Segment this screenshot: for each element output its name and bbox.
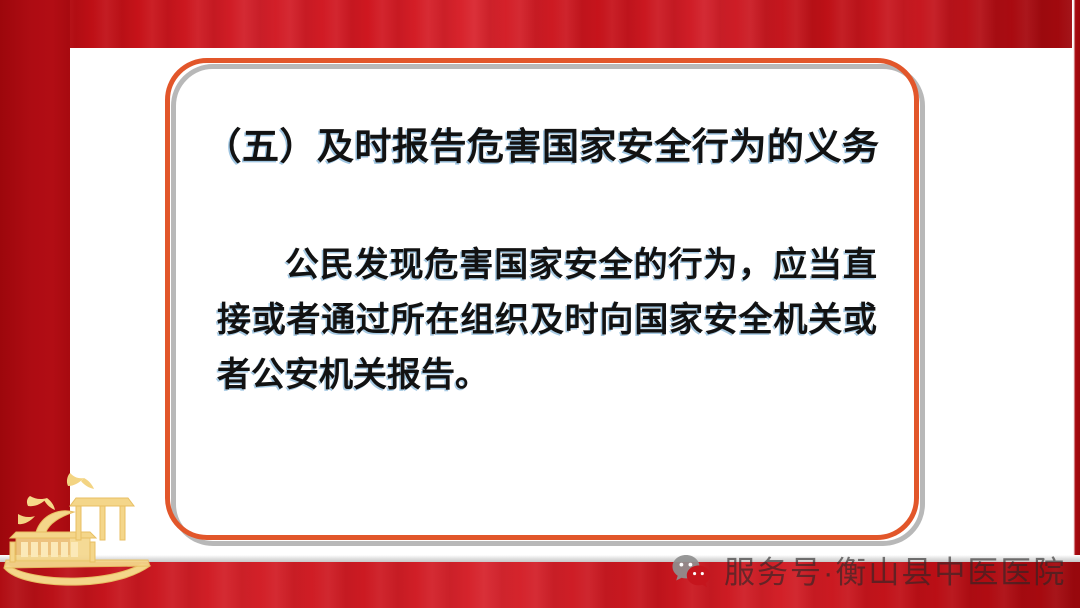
- left-red-column: [0, 0, 70, 608]
- watermark-label: 服务号·衡山县中医医院: [724, 557, 1066, 588]
- slide-canvas: （五）及时报告危害国家安全行为的义务 公民发现危害国家安全的行为，应当直接或者通…: [0, 0, 1080, 608]
- wechat-icon: [672, 554, 712, 590]
- content-area: （五）及时报告危害国家安全行为的义务 公民发现危害国家安全的行为，应当直接或者通…: [165, 58, 919, 540]
- right-red-edge: [1072, 0, 1080, 608]
- body-paragraph: 公民发现危害国家安全的行为，应当直接或者通过所在组织及时向国家安全机关或者公安机…: [217, 238, 877, 403]
- body-block: 公民发现危害国家安全的行为，应当直接或者通过所在组织及时向国家安全机关或者公安机…: [217, 238, 877, 403]
- top-red-banner: [0, 0, 1080, 48]
- watermark: 服务号·衡山县中医医院: [672, 548, 1066, 596]
- page-title: （五）及时报告危害国家安全行为的义务: [165, 116, 919, 170]
